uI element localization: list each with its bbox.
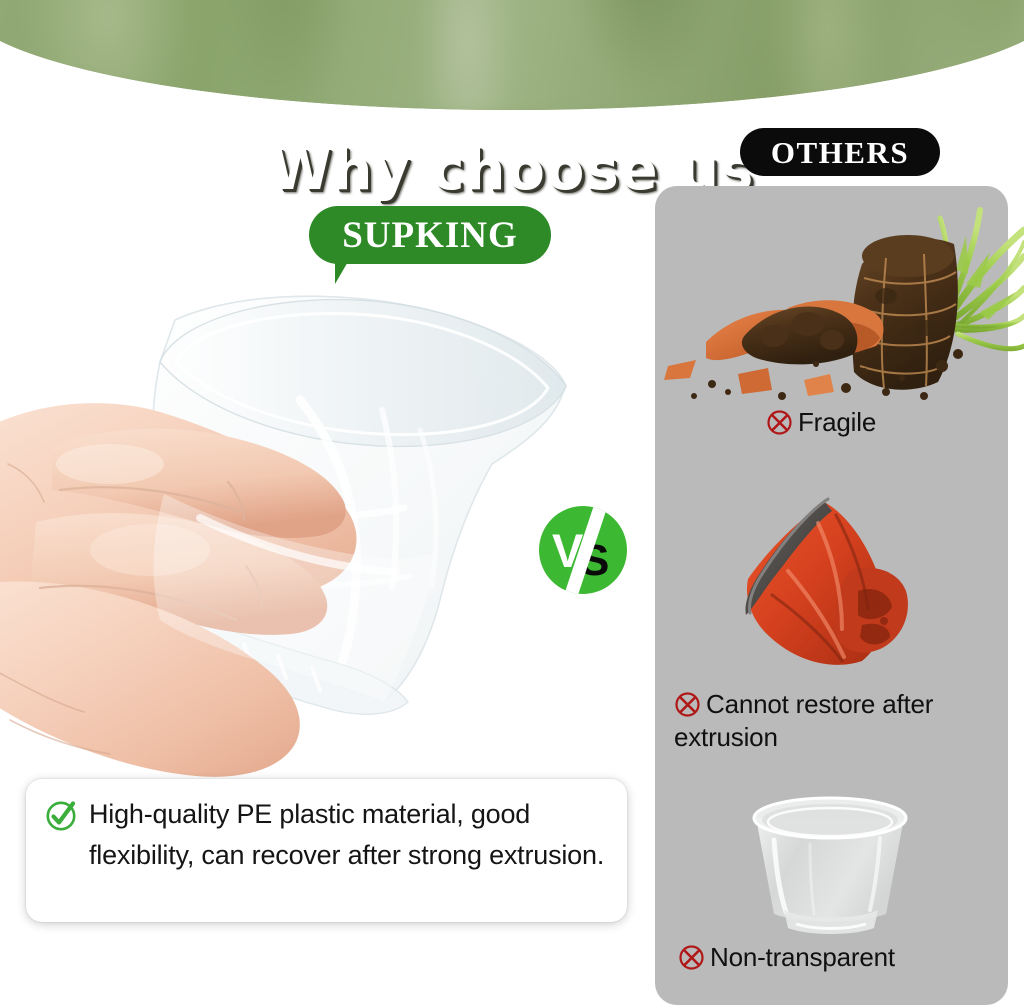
others-item-3-text: Non-transparent (710, 942, 895, 972)
supking-badge-label: SUPKING (342, 217, 518, 254)
others-item-3-label: Non-transparent (678, 941, 895, 974)
others-badge: OTHERS (740, 128, 940, 176)
others-item-1-label: Fragile (766, 406, 876, 439)
others-item-1-photo (650, 196, 1024, 406)
others-item-3-photo (730, 788, 930, 938)
header-banner (0, 0, 1024, 110)
x-circle-icon (674, 691, 701, 718)
infographic-page: Why choose us SUPKING (0, 0, 1024, 1005)
others-badge-label: OTHERS (771, 137, 909, 168)
versus-badge: V S (538, 505, 628, 595)
check-circle-icon (44, 798, 78, 832)
others-item-2-photo (700, 475, 960, 680)
x-circle-icon (678, 944, 705, 971)
others-item-2-text: Cannot restore after extrusion (674, 689, 933, 752)
ours-feature-card: High-quality PE plastic material, good f… (26, 779, 627, 922)
ours-feature-text: High-quality PE plastic material, good f… (89, 794, 607, 876)
x-circle-icon (766, 409, 793, 436)
others-item-2-label: Cannot restore after extrusion (674, 688, 984, 753)
ours-product-photo (0, 250, 600, 780)
header-background-image (0, 0, 1024, 110)
others-item-1-text: Fragile (798, 407, 876, 437)
